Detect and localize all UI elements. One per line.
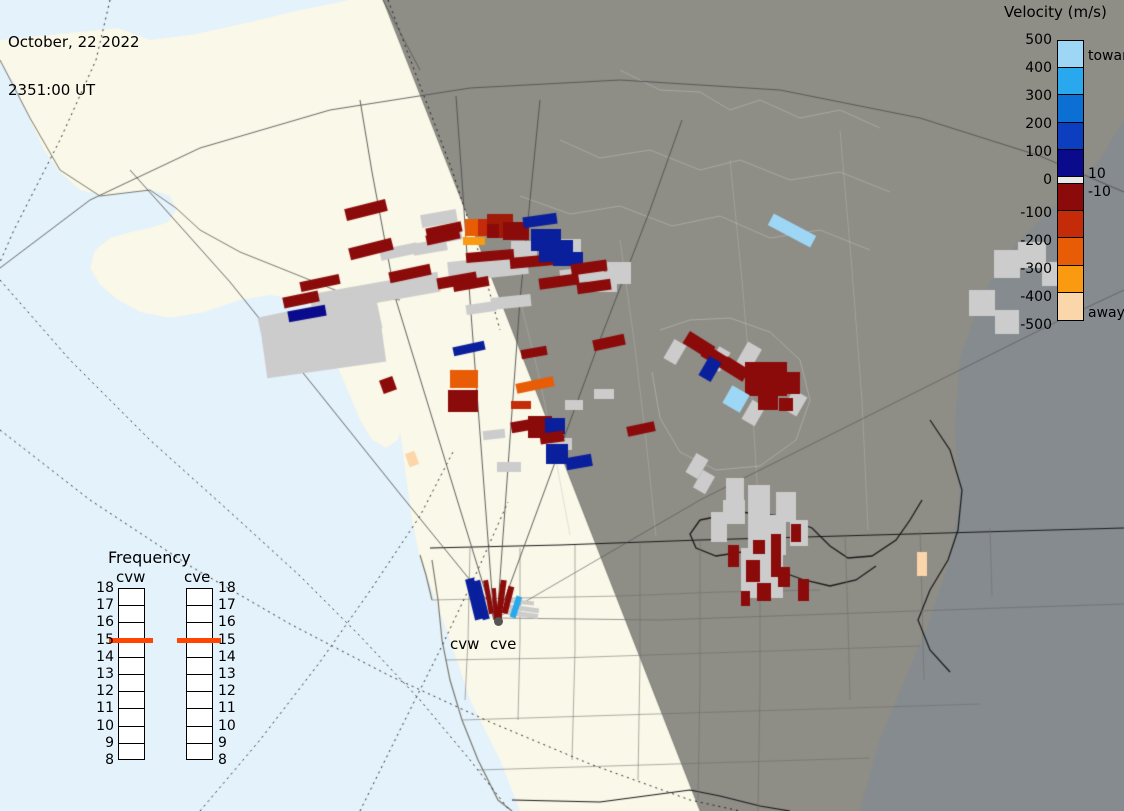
frequency-cell [187, 658, 212, 675]
frequency-tick-10: 10 [92, 718, 114, 734]
frequency-tick-17: 17 [92, 597, 114, 613]
colorbar-tick-0: 0 [1043, 172, 1052, 188]
frequency-tick-11: 11 [92, 700, 114, 716]
frequency-tick-15: 15 [92, 632, 114, 648]
frequency-column-cvw[interactable] [118, 588, 145, 760]
colorbar-tick-200: 200 [1025, 116, 1052, 132]
timestamp: October, 22 2022 2351:00 UT [8, 2, 140, 130]
frequency-cell [119, 606, 144, 623]
colorbar-label-toward: toward [1088, 48, 1124, 64]
frequency-tick-13: 13 [218, 666, 236, 682]
colorbar-swatch [1058, 184, 1083, 211]
site-label-cve: cve [490, 635, 516, 653]
colorbar-swatch [1058, 211, 1083, 238]
frequency-cell [119, 641, 144, 658]
frequency-legend: Frequency cvwcve181817171616151514141313… [90, 548, 240, 798]
colorbar-swatch [1058, 95, 1083, 122]
colorbar-label-away: away [1088, 305, 1124, 321]
frequency-cell [187, 709, 212, 726]
colorbar-label-inner-high: 10 [1088, 166, 1106, 182]
frequency-legend-title: Frequency [108, 548, 191, 567]
colorbar-swatch [1058, 238, 1083, 265]
radar-site-marker [494, 617, 503, 626]
frequency-tick-16: 16 [92, 614, 114, 630]
frequency-cell [119, 675, 144, 692]
frequency-cell [187, 692, 212, 709]
colorbar-tick-100: 100 [1025, 144, 1052, 160]
frequency-tick-10: 10 [218, 718, 236, 734]
frequency-cell [187, 641, 212, 658]
site-label-cvw: cvw [450, 635, 479, 653]
colorbar-swatch [1058, 293, 1083, 320]
colorbar-swatch [1058, 150, 1083, 177]
frequency-tick-18: 18 [218, 580, 236, 596]
frequency-cell [119, 709, 144, 726]
frequency-tick-8: 8 [218, 752, 227, 768]
frequency-tick-16: 16 [218, 614, 236, 630]
frequency-cell [187, 727, 212, 744]
frequency-tick-9: 9 [218, 735, 227, 751]
frequency-marker-cve [177, 638, 221, 643]
frequency-cell [119, 658, 144, 675]
frequency-cell [119, 727, 144, 744]
colorbar-tick--500: -500 [1020, 317, 1052, 333]
frequency-tick-13: 13 [92, 666, 114, 682]
frequency-cell [119, 744, 144, 761]
frequency-tick-14: 14 [218, 649, 236, 665]
colorbar-swatch [1058, 41, 1083, 68]
frequency-column-label-cve: cve [184, 568, 210, 586]
frequency-marker-cvw [109, 638, 153, 643]
colorbar-swatch [1058, 266, 1083, 293]
frequency-cell [187, 675, 212, 692]
colorbar-label-inner-low: -10 [1088, 184, 1111, 200]
colorbar-tick--200: -200 [1020, 233, 1052, 249]
colorbar-gradient[interactable] [1057, 40, 1084, 321]
colorbar-tick-400: 400 [1025, 60, 1052, 76]
colorbar-swatch [1058, 123, 1083, 150]
frequency-tick-12: 12 [218, 683, 236, 699]
colorbar-tick-300: 300 [1025, 88, 1052, 104]
colorbar-swatch [1058, 68, 1083, 95]
frequency-cell [187, 606, 212, 623]
frequency-tick-9: 9 [92, 735, 114, 751]
frequency-tick-14: 14 [92, 649, 114, 665]
frequency-cell [119, 692, 144, 709]
frequency-tick-8: 8 [92, 752, 114, 768]
frequency-tick-18: 18 [92, 580, 114, 596]
colorbar-title: Velocity (m/s) [1004, 3, 1124, 21]
velocity-colorbar-panel: Velocity (m/s) 5004003002001000-100-200-… [1000, 0, 1124, 340]
frequency-tick-11: 11 [218, 700, 236, 716]
frequency-column-cve[interactable] [186, 588, 213, 760]
frequency-tick-15: 15 [218, 632, 236, 648]
frequency-cell [187, 744, 212, 761]
colorbar-tick-500: 500 [1025, 32, 1052, 48]
colorbar-swatch [1058, 177, 1083, 184]
frequency-tick-17: 17 [218, 597, 236, 613]
frequency-cell [119, 589, 144, 606]
superdarn-velocity-map: October, 22 2022 2351:00 UT Velocity (m/… [0, 0, 1124, 811]
colorbar-tick--100: -100 [1020, 205, 1052, 221]
frequency-column-label-cvw: cvw [116, 568, 145, 586]
frequency-tick-12: 12 [92, 683, 114, 699]
colorbar-tick--300: -300 [1020, 261, 1052, 277]
timestamp-time: 2351:00 UT [8, 82, 140, 98]
colorbar-tick--400: -400 [1020, 289, 1052, 305]
frequency-cell [187, 589, 212, 606]
timestamp-date: October, 22 2022 [8, 34, 140, 50]
